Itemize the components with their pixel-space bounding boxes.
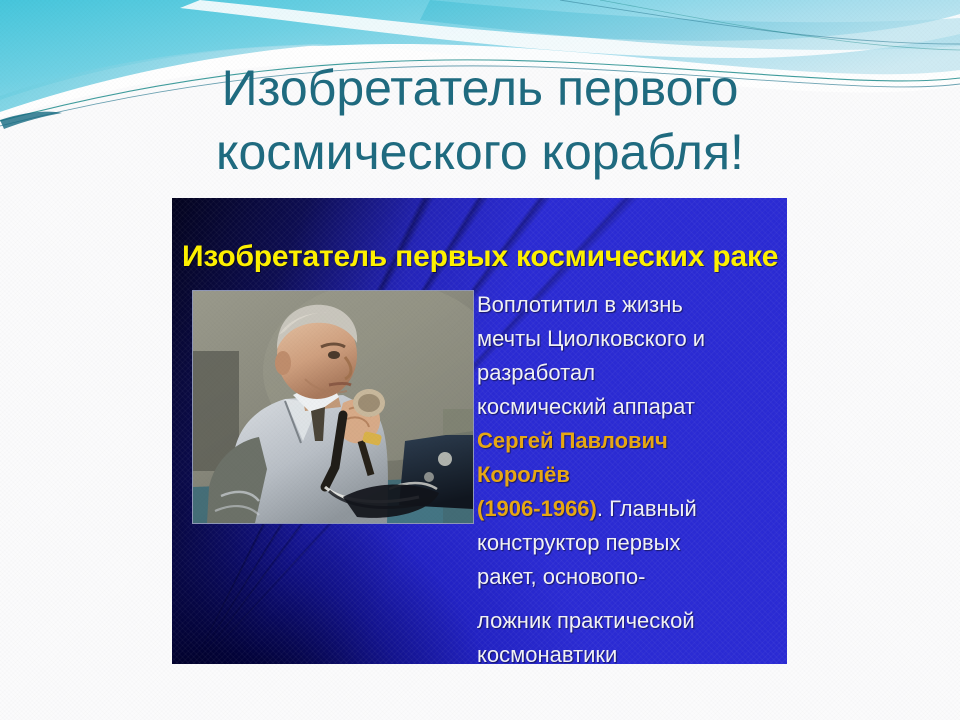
embedded-slide-image: Изобретатель первых космических раке (172, 198, 787, 664)
body-line-years: (1906-1966). Главный (477, 492, 777, 526)
body-line: Воплотитил в жизнь (477, 288, 777, 322)
title-line-1: Изобретатель первого (0, 56, 960, 120)
body-line: ракет, основопо- (477, 560, 777, 594)
life-years: (1906-1966) (477, 496, 597, 521)
body-line: ложник практической (477, 604, 777, 638)
embedded-heading: Изобретатель первых космических раке (182, 240, 787, 274)
body-line-clipped: космонавтики (477, 638, 777, 664)
page-title: Изобретатель первого космического корабл… (0, 56, 960, 184)
body-line: космический аппарат (477, 390, 777, 424)
body-line-years-rest: . Главный (597, 496, 697, 521)
body-line: разработал (477, 356, 777, 390)
body-line-name: Королёв (477, 458, 777, 492)
presentation-slide: Изобретатель первого космического корабл… (0, 0, 960, 720)
korolev-photo (192, 290, 474, 524)
body-line: конструктор первых (477, 526, 777, 560)
title-line-2: космического корабля! (0, 120, 960, 184)
body-line: мечты Циолковского и (477, 322, 777, 356)
body-line-name: Сергей Павлович (477, 424, 777, 458)
embedded-body-text: Воплотитил в жизнь мечты Циолковского и … (477, 288, 777, 664)
